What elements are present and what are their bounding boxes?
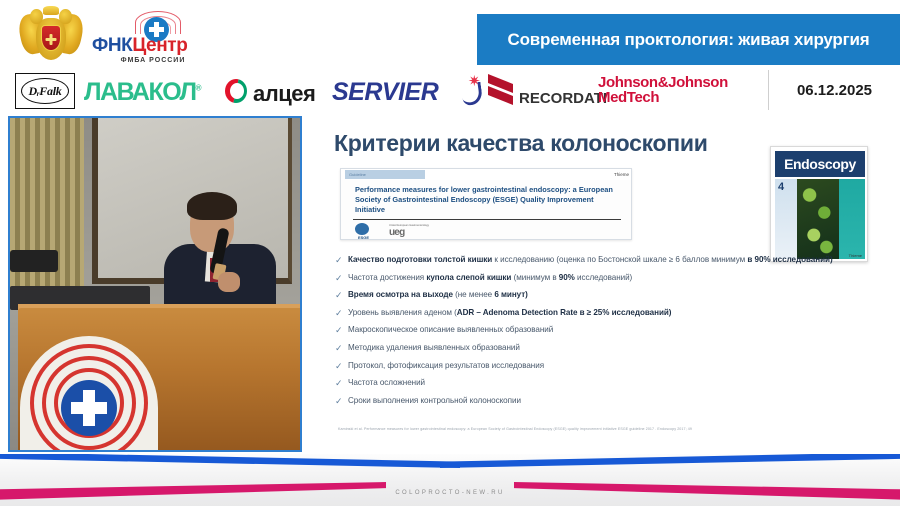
checkmark-icon: ✓	[335, 360, 348, 372]
quality-criteria-list: ✓Качество подготовки толстой кишки к исс…	[335, 254, 895, 412]
paper-tab-label: Guideline	[345, 170, 425, 179]
speaker-video-feed[interactable]	[8, 116, 302, 452]
blue-swoosh-left	[0, 454, 460, 468]
johnson-johnson-medtech-logo: Johnson&Johnson MedTech	[598, 75, 728, 105]
journal-title: Endoscopy	[775, 151, 865, 177]
site-watermark: COLOPROCTO-NEW.RU	[0, 490, 900, 496]
criteria-item: ✓Уровень выявления аденом (ADR – Adenoma…	[335, 307, 895, 319]
event-title: Современная проктология: живая хирургия	[508, 30, 870, 50]
checkmark-icon: ✓	[335, 254, 348, 266]
dr-falk-label: DᵣFalk	[29, 84, 62, 99]
event-title-bar: Современная проктология: живая хирургия	[477, 14, 900, 65]
endoscopy-journal-cover: Endoscopy 4 Thieme	[770, 146, 868, 262]
criteria-item: ✓Качество подготовки толстой кишки к исс…	[335, 254, 895, 266]
servier-label: SERVIER	[332, 78, 438, 107]
dr-falk-logo: DᵣFalk	[15, 73, 75, 109]
slide-citation: Kaminski et al. Performance measures for…	[338, 426, 878, 432]
event-date: 06.12.2025	[797, 82, 872, 99]
checkmark-icon: ✓	[335, 307, 348, 319]
broadcast-stage: Критерии качества колоноскопии Guideline…	[0, 114, 900, 454]
criteria-item: ✓ Сроки выполнения контрольной колоноско…	[335, 395, 895, 407]
blue-swoosh-right	[440, 454, 900, 468]
fnkc-logo: ФНКЦентр ФМБА РОССИИ	[92, 8, 214, 66]
sponsor-logo-row: DᵣFalk ЛАВАКОЛ® алцея SERVIER ✷ RECORDAT…	[0, 70, 770, 112]
journal-issue-number: 4	[778, 181, 784, 193]
recordati-label: RECORDATI	[519, 90, 607, 107]
esge-logo-icon: ESGE	[355, 223, 372, 237]
checkmark-icon: ✓	[335, 289, 348, 301]
criteria-item-label: Макроскопическое описание выявленных обр…	[348, 324, 553, 336]
lavakol-label: ЛАВАКОЛ	[84, 78, 196, 106]
criteria-item: ✓Протокол, фотофиксация результатов иссл…	[335, 360, 895, 372]
criteria-item: ✓Частота достижения купола слепой кишки …	[335, 272, 895, 284]
laptop	[10, 250, 58, 272]
criteria-item: ✓ Макроскопическое описание выявленных о…	[335, 324, 895, 336]
fnkc-word-part2: Центр	[132, 35, 187, 56]
journal-cover-image	[797, 179, 839, 259]
esge-label: ESGE	[355, 235, 372, 240]
ueg-label: ueg	[389, 227, 404, 238]
criteria-item: ✓Время осмотра на выходе (не менее 6 мин…	[335, 289, 895, 301]
paper-thumbnail: Guideline Thieme Performance measures fo…	[340, 168, 632, 240]
checkmark-icon: ✓	[335, 324, 348, 336]
ueg-logo-icon: United European Gastroenterology ueg	[389, 224, 429, 238]
servier-star-icon: ✷	[468, 74, 481, 89]
criteria-item-label: Качество подготовки толстой кишки к иссл…	[348, 254, 833, 266]
page-header: ФНКЦентр ФМБА РОССИИ DᵣFalk ЛАВАКОЛ® алц…	[0, 0, 900, 114]
criteria-item-label: Уровень выявления аденом (ADR – Adenoma …	[348, 307, 671, 319]
event-date-box: 06.12.2025	[768, 70, 900, 110]
criteria-item-label: Протокол, фотофиксация результатов иссле…	[348, 360, 544, 372]
criteria-item-label: Частота достижения купола слепой кишки (…	[348, 272, 632, 284]
fnkc-logo-wordmark: ФНКЦентр	[92, 36, 214, 56]
coat-of-arms-icon	[18, 6, 84, 68]
criteria-item: ✓Методика удаления выявленных образовани…	[335, 342, 895, 354]
criteria-item-label: Частота осложнений	[348, 377, 425, 389]
checkmark-icon: ✓	[335, 272, 348, 284]
jnj-line1: Johnson&Johnson	[598, 75, 728, 90]
presentation-slide: Критерии качества колоноскопии Guideline…	[310, 120, 898, 448]
criteria-item-label: Методика удаления выявленных образований	[348, 342, 520, 354]
criteria-item-label: Сроки выполнения контрольной колоноскопи…	[348, 395, 521, 407]
jnj-line2: MedTech	[598, 90, 728, 105]
criteria-item-label: Время осмотра на выходе (не менее 6 мину…	[348, 289, 528, 301]
slide-title: Критерии качества колоноскопии	[334, 130, 708, 157]
alcea-label: алцея	[253, 81, 315, 107]
criteria-item: ✓Частота осложнений	[335, 377, 895, 389]
lavakol-logo: ЛАВАКОЛ®	[84, 78, 200, 107]
paper-publisher: Thieme	[614, 170, 629, 179]
checkmark-icon: ✓	[335, 377, 348, 389]
recordati-mark-icon	[488, 78, 514, 104]
fnkc-logo-subtitle: ФМБА РОССИИ	[92, 57, 214, 64]
alcea-mark-icon	[225, 79, 247, 103]
lavakol-registered-mark: ®	[196, 84, 200, 93]
checkmark-icon: ✓	[335, 342, 348, 354]
checkmark-icon: ✓	[335, 395, 348, 407]
paper-title: Performance measures for lower gastroint…	[355, 185, 621, 215]
fnkc-word-part1: ФНК	[92, 35, 132, 56]
page-footer: COLOPROCTO-NEW.RU	[0, 454, 900, 506]
